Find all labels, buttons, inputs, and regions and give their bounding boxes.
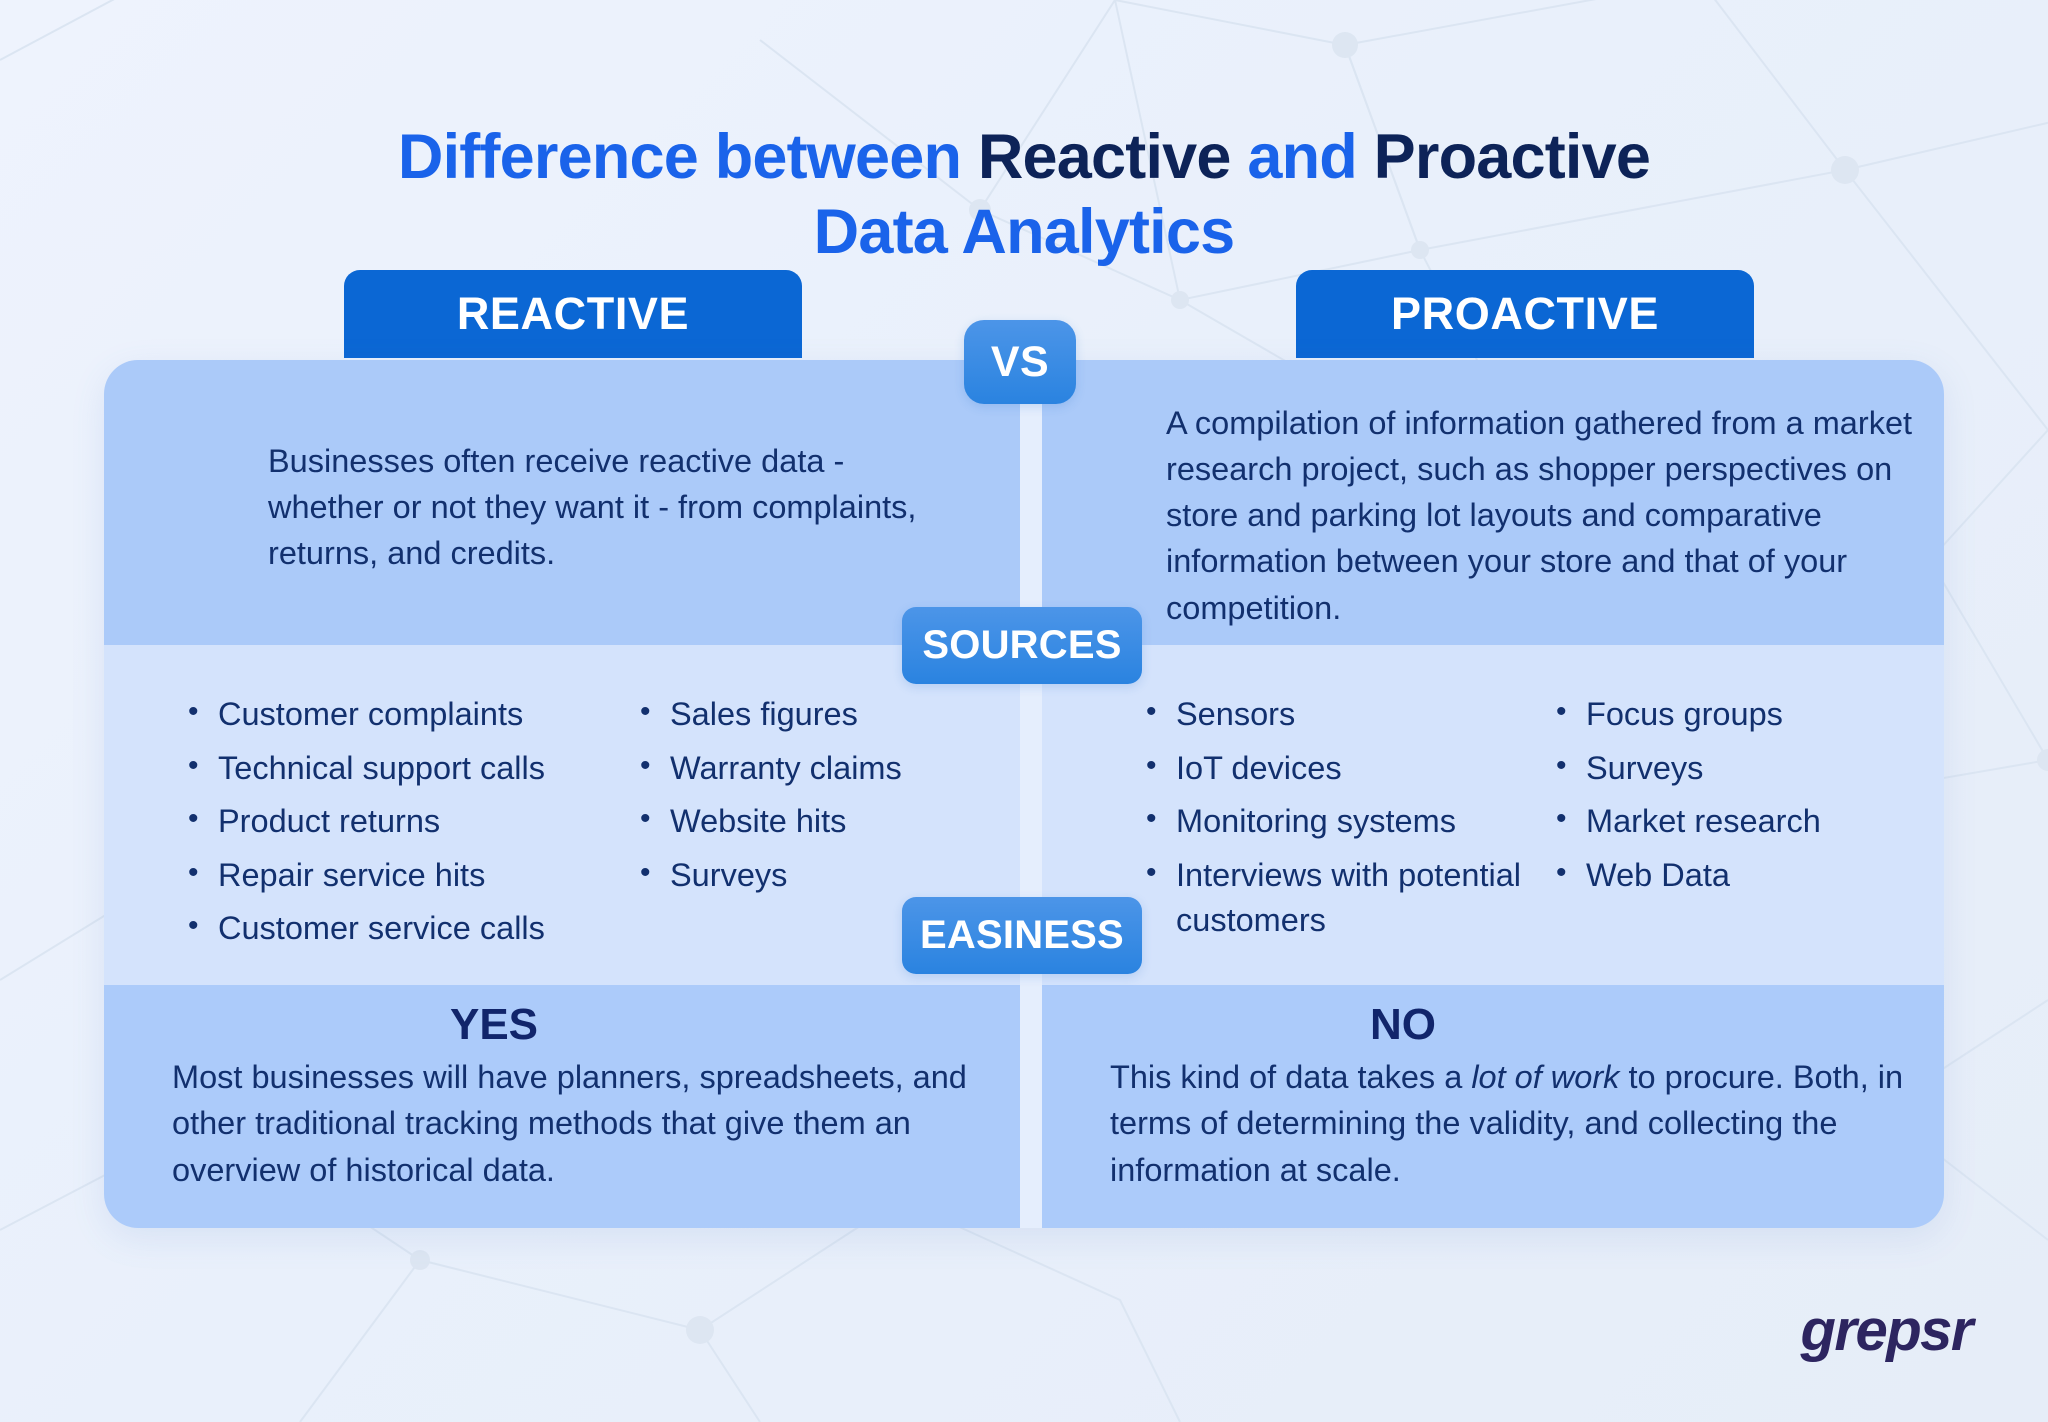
easiness-section-label: EASINESS	[920, 913, 1124, 958]
reactive-sources-column-1: Customer complaintsTechnical support cal…	[180, 692, 600, 960]
title-line-two: Data Analytics	[0, 195, 2048, 269]
column-header-proactive: PROACTIVE	[1296, 270, 1754, 358]
grepsr-logo: grepsr	[1800, 1297, 1972, 1364]
reactive-easiness-body: Most businesses will have planners, spre…	[172, 1054, 1002, 1193]
vs-badge: VS	[964, 320, 1076, 404]
list-item: Customer complaints	[180, 692, 600, 738]
proactive-easiness-body: This kind of data takes a lot of work to…	[1110, 1054, 1910, 1193]
proactive-sources-column-2: Focus groupsSurveysMarket researchWeb Da…	[1548, 692, 1948, 906]
title-segment-proactive: Proactive	[1374, 122, 1650, 192]
list-item: Surveys	[1548, 746, 1948, 792]
list-item: Product returns	[180, 799, 600, 845]
list-item: Focus groups	[1548, 692, 1948, 738]
list-item: Customer service calls	[180, 906, 600, 952]
column-header-proactive-label: PROACTIVE	[1391, 288, 1659, 340]
list-item: IoT devices	[1138, 746, 1568, 792]
proactive-easiness-body-part1: This kind of data takes a	[1110, 1059, 1471, 1095]
list-item: Technical support calls	[180, 746, 600, 792]
list-item: Web Data	[1548, 853, 1948, 899]
list-item: Warranty claims	[632, 746, 1032, 792]
easiness-section-badge: EASINESS	[902, 897, 1142, 974]
proactive-easiness-verdict: NO	[1294, 1000, 1512, 1050]
list-item: Sensors	[1138, 692, 1568, 738]
title-segment-and: and	[1231, 122, 1374, 192]
vs-badge-label: VS	[991, 338, 1049, 387]
proactive-easiness-body-emphasis: lot of work	[1471, 1059, 1619, 1095]
list-item: Repair service hits	[180, 853, 600, 899]
title-segment-difference-between: Difference between	[398, 122, 978, 192]
title-segment-reactive: Reactive	[978, 122, 1231, 192]
reactive-description: Businesses often receive reactive data -…	[268, 438, 928, 576]
list-item: Sales figures	[632, 692, 1032, 738]
list-item: Monitoring systems	[1138, 799, 1568, 845]
proactive-description: A compilation of information gathered fr…	[1166, 400, 1926, 631]
reactive-easiness-verdict: YES	[316, 1000, 672, 1050]
column-header-reactive-label: REACTIVE	[457, 288, 689, 340]
reactive-sources-column-2: Sales figuresWarranty claimsWebsite hits…	[632, 692, 1032, 906]
proactive-sources-column-1: SensorsIoT devicesMonitoring systemsInte…	[1138, 692, 1568, 952]
column-header-reactive: REACTIVE	[344, 270, 802, 358]
list-item: Market research	[1548, 799, 1948, 845]
page-title: Difference between Reactive and Proactiv…	[0, 120, 2048, 269]
list-item: Website hits	[632, 799, 1032, 845]
sources-section-badge: SOURCES	[902, 607, 1142, 684]
list-item: Interviews with potential customers	[1138, 853, 1568, 944]
list-item: Surveys	[632, 853, 1032, 899]
sources-section-label: SOURCES	[922, 623, 1121, 668]
